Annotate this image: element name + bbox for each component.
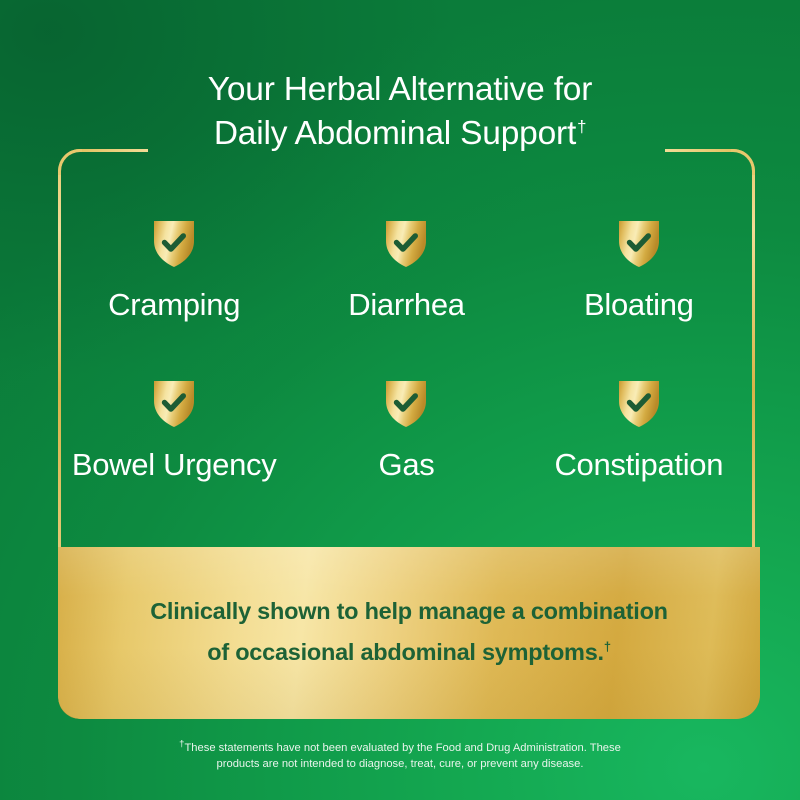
banner-dagger: † bbox=[604, 639, 611, 654]
symptom-label: Bowel Urgency bbox=[72, 447, 277, 483]
disclaimer-line-2: products are not intended to diagnose, t… bbox=[0, 756, 800, 772]
symptom-row-2: Bowel Urgency Gas Constipation bbox=[58, 378, 755, 483]
shield-check-icon bbox=[616, 218, 662, 270]
symptom-label: Bloating bbox=[584, 287, 694, 323]
fda-disclaimer: †These statements have not been evaluate… bbox=[0, 740, 800, 772]
symptom-item-cramping: Cramping bbox=[58, 218, 290, 323]
shield-check-icon bbox=[616, 378, 662, 430]
symptom-grid: Cramping Diarrhea Bloating bbox=[58, 218, 755, 483]
symptom-row-1: Cramping Diarrhea Bloating bbox=[58, 218, 755, 378]
banner-line-2-text: of occasional abdominal symptoms. bbox=[207, 639, 604, 665]
disclaimer-line-1-text: These statements have not been evaluated… bbox=[184, 742, 620, 754]
symptom-item-constipation: Constipation bbox=[523, 378, 755, 483]
symptom-item-bloating: Bloating bbox=[523, 218, 755, 323]
symptom-item-bowel-urgency: Bowel Urgency bbox=[58, 378, 290, 483]
banner-line-2: of occasional abdominal symptoms.† bbox=[58, 632, 760, 673]
shield-check-icon bbox=[151, 378, 197, 430]
headline: Your Herbal Alternative for Daily Abdomi… bbox=[0, 68, 800, 156]
symptom-label: Cramping bbox=[108, 287, 240, 323]
disclaimer-line-1: †These statements have not been evaluate… bbox=[0, 740, 800, 756]
headline-line-2: Daily Abdominal Support† bbox=[0, 112, 800, 156]
symptom-item-gas: Gas bbox=[290, 378, 522, 483]
symptom-label: Gas bbox=[379, 447, 435, 483]
gold-claim-banner: Clinically shown to help manage a combin… bbox=[58, 547, 760, 719]
symptom-item-diarrhea: Diarrhea bbox=[290, 218, 522, 323]
symptom-label: Diarrhea bbox=[348, 287, 464, 323]
symptom-label: Constipation bbox=[554, 447, 723, 483]
headline-line-2-text: Daily Abdominal Support bbox=[214, 115, 576, 152]
headline-line-1: Your Herbal Alternative for bbox=[0, 68, 800, 112]
shield-check-icon bbox=[151, 218, 197, 270]
banner-line-1: Clinically shown to help manage a combin… bbox=[58, 591, 760, 632]
headline-dagger: † bbox=[577, 117, 586, 136]
shield-check-icon bbox=[383, 378, 429, 430]
banner-text: Clinically shown to help manage a combin… bbox=[58, 547, 760, 673]
promo-graphic-canvas: Your Herbal Alternative for Daily Abdomi… bbox=[0, 0, 800, 800]
shield-check-icon bbox=[383, 218, 429, 270]
